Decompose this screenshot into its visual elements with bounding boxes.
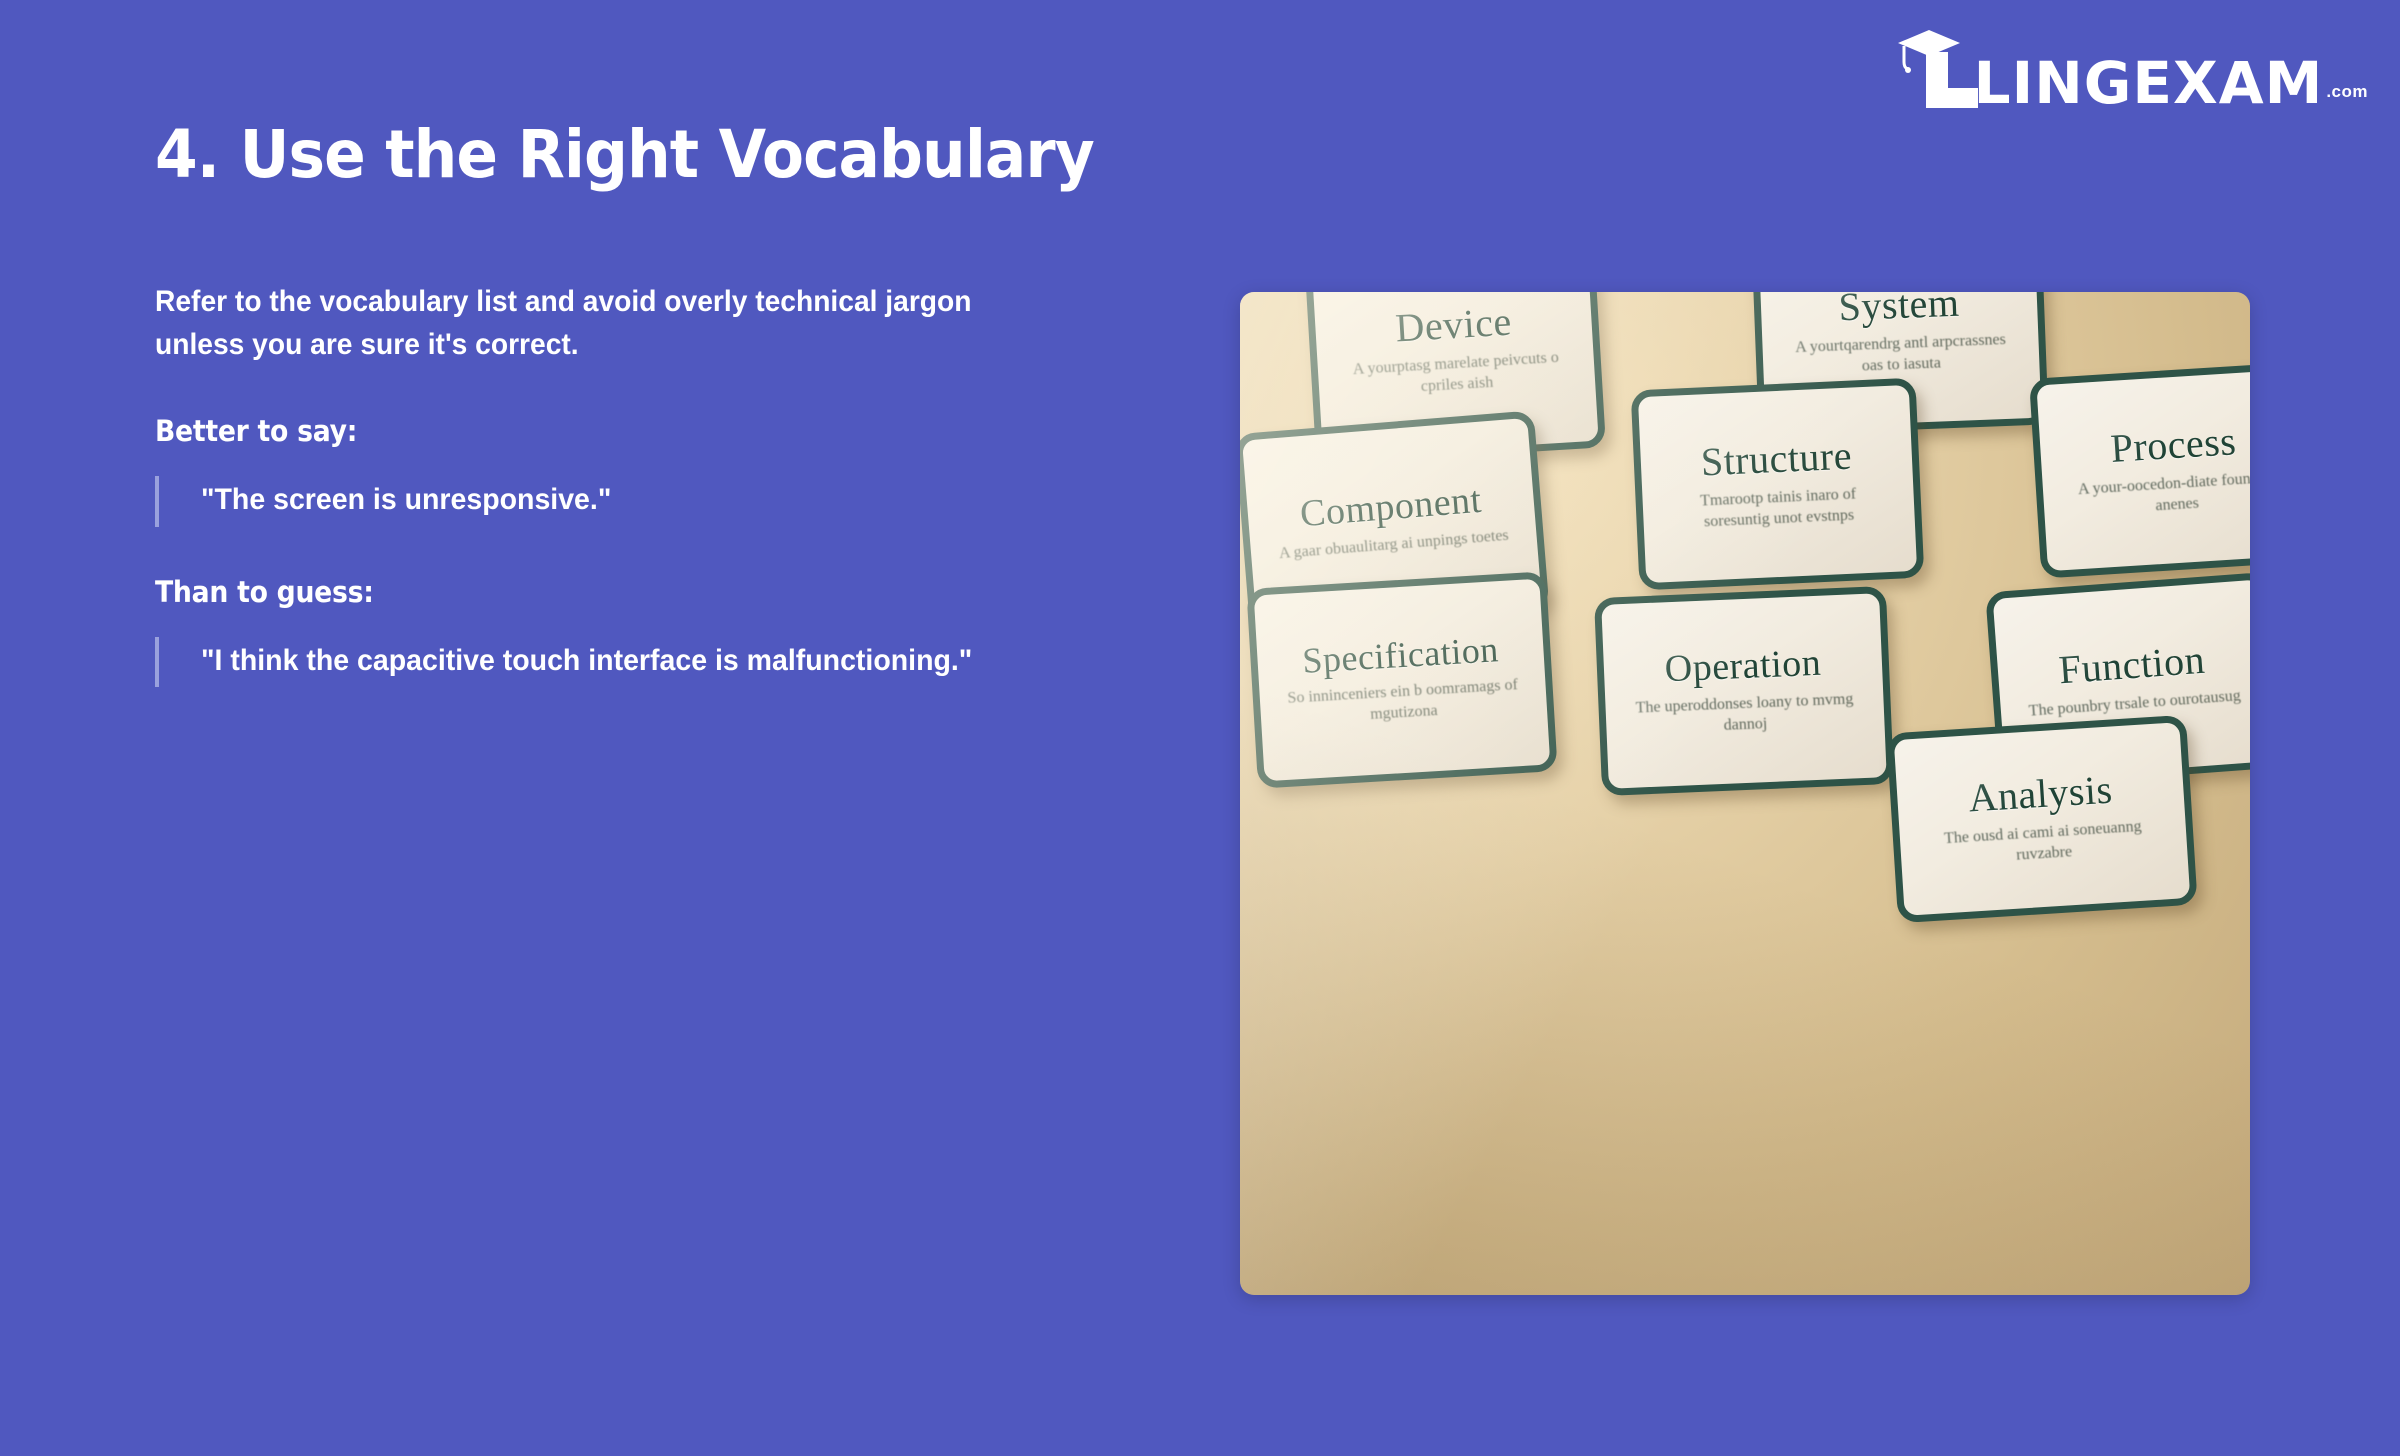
better-quote-text: "The screen is unresponsive." (201, 480, 611, 521)
flashcard-sub: A your-oocedon-diate founanu anenes (2068, 467, 2250, 521)
flashcard-sub: A yourtqarendrg antl arpcrassnes oas to … (1788, 330, 2014, 380)
logo-mark (1900, 22, 1978, 108)
worse-quote-text: "I think the capacitive touch interface … (201, 641, 972, 682)
flashcard-word: Analysis (1967, 770, 2113, 819)
intro-paragraph: Refer to the vocabulary list and avoid o… (155, 281, 1034, 366)
flashcard-word: Function (2058, 640, 2207, 691)
flashcard-analysis: Analysis The ousd ai cami ai soneuanng r… (1886, 715, 2197, 923)
flashcard-word: Specification (1301, 631, 1499, 679)
worse-quote-block: "I think the capacitive touch interface … (155, 637, 1165, 688)
flashcard-specification: Specification So inninceniers ein b oomr… (1246, 571, 1557, 788)
flashcard-sub: So inninceniers ein b oomramags of mguti… (1285, 675, 1521, 730)
slide-root: LINGEXAM .com 4. Use the Right Vocabular… (0, 0, 2400, 1456)
content-column: 4. Use the Right Vocabulary Refer to the… (155, 120, 1165, 687)
flashcard-sub: A yourptasg marelate peivcuts o cpriles … (1343, 347, 1570, 401)
flashcards-photo: Device A yourptasg marelate peivcuts o c… (1240, 292, 2250, 1295)
logo-letter-l (1926, 52, 1948, 108)
logo-wordmark: LINGEXAM (1974, 59, 2324, 108)
flashcard-word: Component (1299, 481, 1483, 533)
flashcard-word: Operation (1664, 644, 1822, 689)
flashcard-word: System (1838, 292, 1960, 327)
flashcard-operation: Operation The uperoddonses loany to mvmg… (1594, 586, 1894, 796)
flashcard-structure: Structure Tmarootp tainis inaro of sores… (1631, 378, 1925, 591)
page-title: 4. Use the Right Vocabulary (155, 120, 1094, 189)
than-to-guess-label: Than to guess: (155, 575, 1084, 609)
better-quote-block: "The screen is unresponsive." (155, 476, 1165, 527)
logo-tld: .com (2326, 82, 2368, 108)
flashcard-sub: The ousd ai cami ai soneuanng ruvzabre (1926, 816, 2162, 872)
flashcard-word: Device (1394, 302, 1512, 349)
flashcard-word: Process (2109, 421, 2237, 469)
better-to-say-label: Better to say: (155, 414, 1084, 448)
brand-logo[interactable]: LINGEXAM .com (1900, 22, 2368, 108)
flashcard-sub: The uperoddonses loany to mvmg dannoj (1631, 689, 1859, 739)
flashcard-sub: Tmarootp tainis inaro of soresuntig unot… (1668, 483, 1890, 534)
flashcard-word: Structure (1700, 436, 1853, 483)
flashcard-process: Process A your-oocedon-diate founanu ane… (2029, 361, 2250, 578)
